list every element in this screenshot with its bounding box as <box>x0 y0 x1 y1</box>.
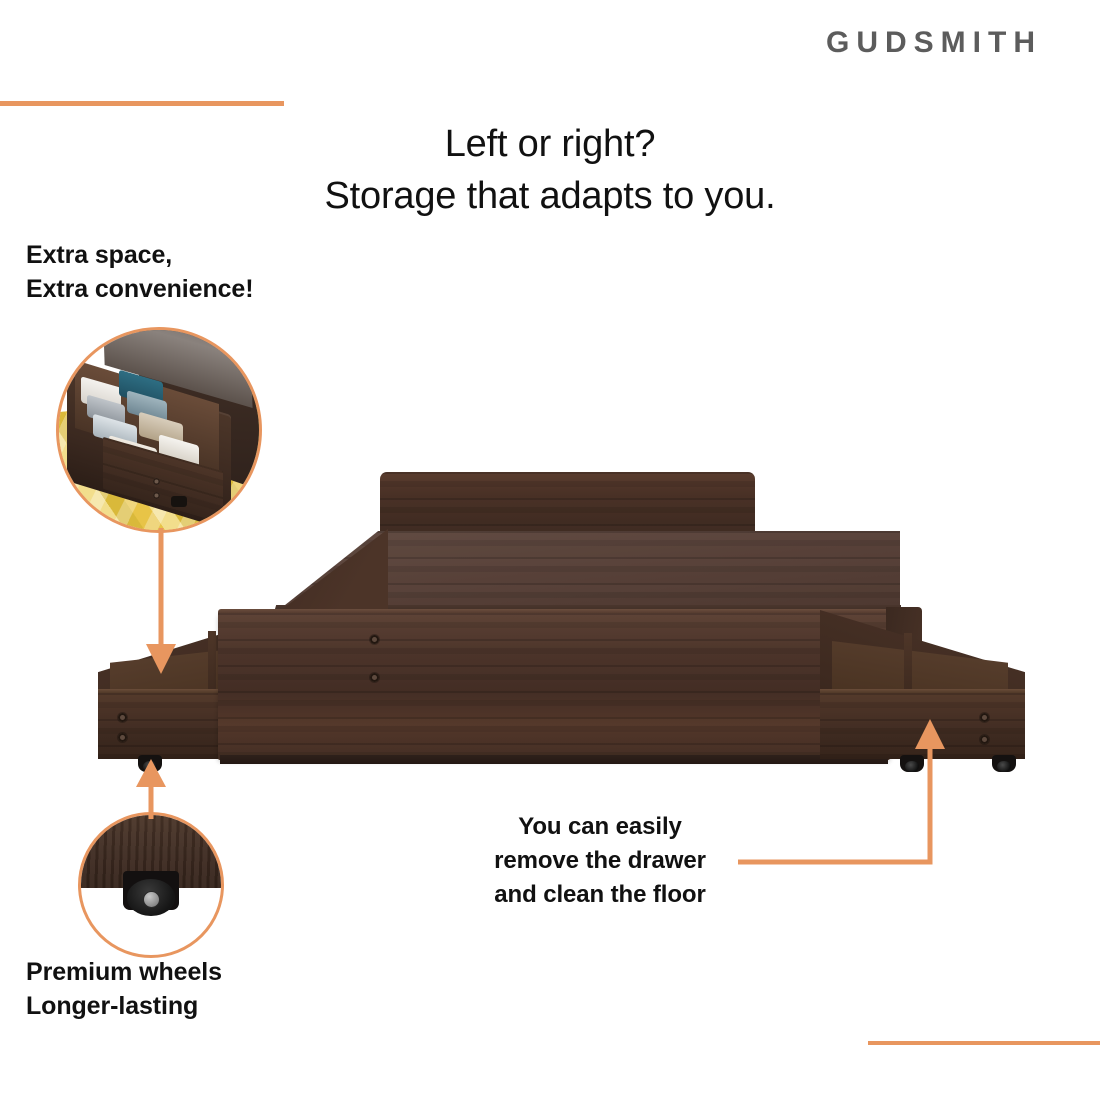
headline-line-2: Storage that adapts to you. <box>0 170 1100 222</box>
bed-headboard <box>380 472 755 534</box>
brand-logo: GUDSMITH <box>826 28 1042 58</box>
infographic-canvas: GUDSMITH Left or right? Storage that ada… <box>0 0 1100 1100</box>
wheel-scene <box>81 815 221 955</box>
callout-storage-caption: Extra space, Extra convenience! <box>26 238 253 306</box>
decor-rule-top-left <box>0 101 284 106</box>
inset-photo-caster-wheel <box>78 812 224 958</box>
callout-drawer-caption: You can easily remove the drawer and cle… <box>470 810 730 912</box>
screw-detail <box>118 713 127 722</box>
page-title: Left or right? Storage that adapts to yo… <box>0 118 1100 223</box>
screw-detail <box>118 733 127 742</box>
callout-storage-line-2: Extra convenience! <box>26 272 253 306</box>
screw-detail <box>980 713 989 722</box>
arrow-up-icon-wheel <box>120 757 184 819</box>
callout-wheels-caption: Premium wheels Longer-lasting <box>26 955 222 1023</box>
arrow-down-icon-storage <box>130 528 194 678</box>
callout-storage-line-1: Extra space, <box>26 238 253 272</box>
screw-detail <box>370 635 379 644</box>
screw-detail <box>370 673 379 682</box>
callout-drawer-line-3: and clean the floor <box>470 878 730 912</box>
caster-wheel <box>992 755 1016 772</box>
arrow-elbow-icon-drawer <box>730 715 960 875</box>
decor-rule-bottom-right <box>868 1041 1100 1045</box>
callout-drawer-line-2: remove the drawer <box>470 844 730 878</box>
screw-detail <box>980 735 989 744</box>
callout-wheels-line-1: Premium wheels <box>26 955 222 989</box>
callout-wheels-line-2: Longer-lasting <box>26 989 222 1023</box>
headline-line-1: Left or right? <box>0 118 1100 170</box>
callout-drawer-line-1: You can easily <box>470 810 730 844</box>
